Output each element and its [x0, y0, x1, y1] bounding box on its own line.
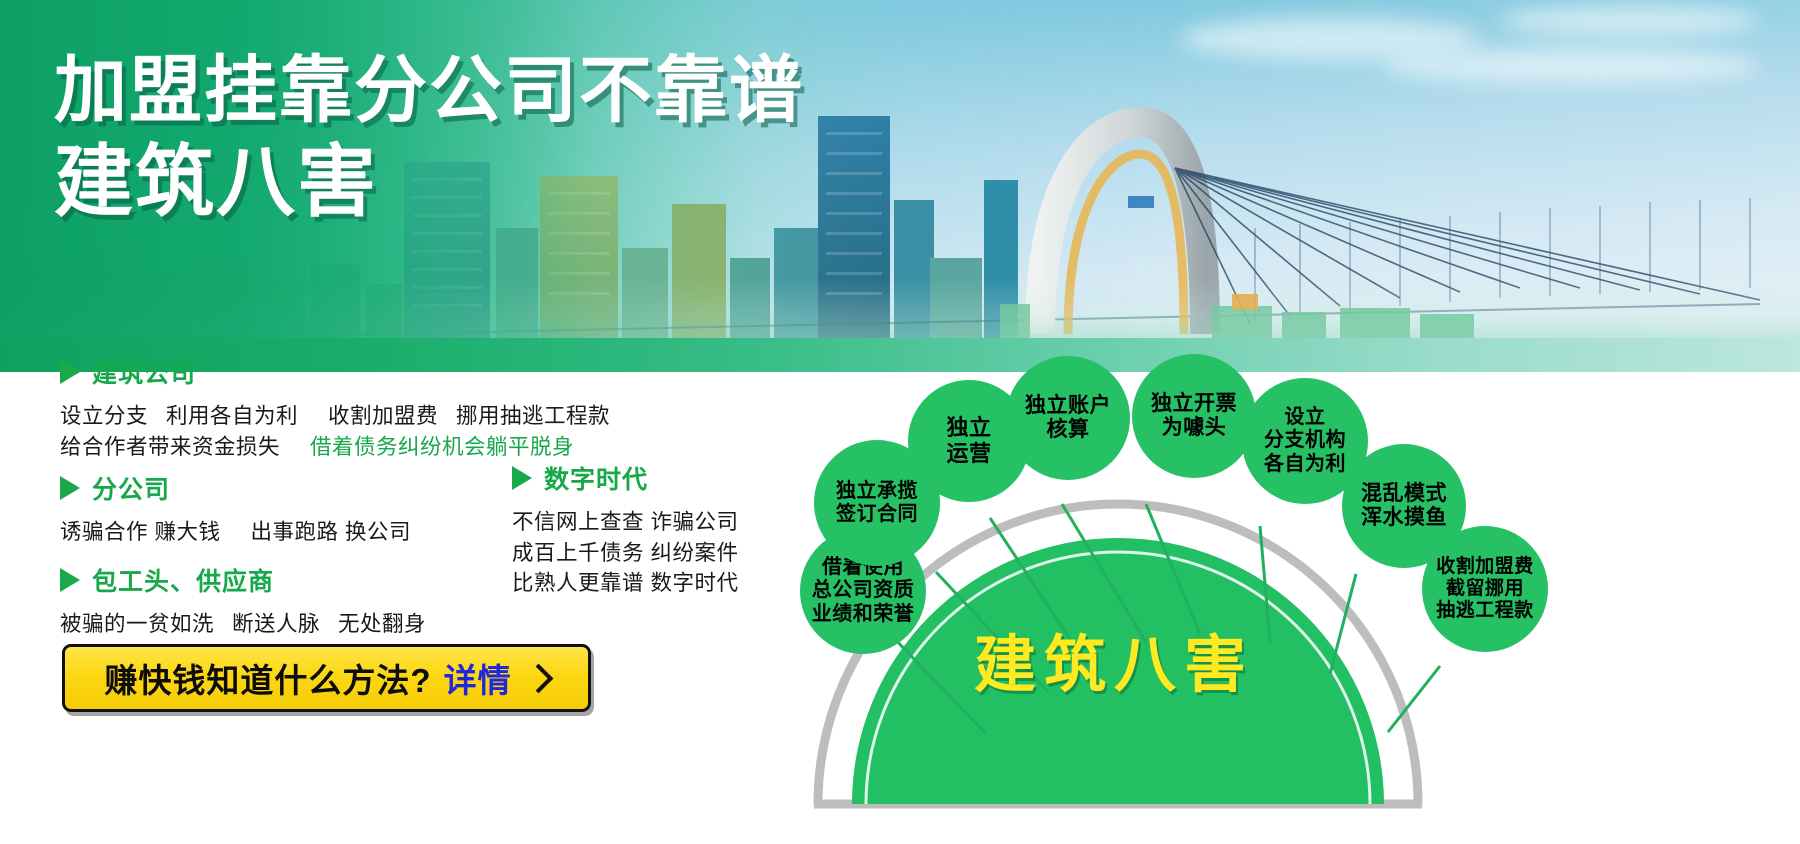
cta-label: 赚快钱知道什么方法? [104, 654, 431, 702]
triangle-bullet-icon [60, 360, 80, 384]
section-title: 数字时代 [544, 460, 648, 496]
node-line: 独立承揽 [836, 480, 918, 503]
section-header: 包工头、供应商 [60, 562, 426, 598]
section-branch-company: 分公司 诱骗合作 赚大钱出事跑路 换公司 [60, 470, 411, 548]
section-header: 数字时代 [512, 460, 738, 496]
section-contractor-supplier: 包工头、供应商 被骗的一贫如洗断送人脉无处翻身 [60, 562, 426, 640]
line-part: 无处翻身 [338, 612, 426, 636]
section-line: 不信网上查查 诈骗公司 [512, 507, 738, 538]
section-body: 设立分支利用各自为利收割加盟费挪用抽逃工程款 给合作者带来资金损失借着债务纠纷机… [60, 401, 610, 462]
cta-button[interactable]: 赚快钱知道什么方法? 详情 [62, 644, 591, 712]
diagram-node[interactable]: 独立账户 核算 [1006, 356, 1130, 480]
section-title: 分公司 [92, 470, 170, 506]
node-line: 收割加盟费 [1436, 556, 1534, 578]
chevron-right-icon [523, 663, 553, 693]
cta-detail-link[interactable]: 详情 [444, 654, 512, 702]
line-part: 收割加盟费 [328, 404, 438, 428]
cloud-decoration [1380, 48, 1760, 84]
line-part: 断送人脉 [232, 612, 320, 636]
node-line: 核算 [1025, 418, 1111, 442]
poster-root: 加盟挂靠分公司不靠谱 建筑八害 建筑公司 设立分支利用各自为利收割加盟费挪用抽逃… [0, 0, 1800, 844]
section-line: 诱骗合作 赚大钱出事跑路 换公司 [60, 517, 411, 548]
left-content-column: 建筑公司 设立分支利用各自为利收割加盟费挪用抽逃工程款 给合作者带来资金损失借着… [0, 372, 800, 844]
node-line: 设立 [1264, 406, 1346, 429]
node-line: 抽逃工程款 [1436, 600, 1534, 622]
line-part-highlight: 借着债务纠纷机会躺平脱身 [310, 435, 574, 459]
hero-title-block: 加盟挂靠分公司不靠谱 建筑八害 [54, 50, 804, 226]
node-line: 运营 [946, 441, 991, 467]
line-part: 设立分支 [60, 404, 148, 428]
section-header: 建筑公司 [60, 354, 610, 390]
line-part: 诱骗合作 赚大钱 [60, 520, 220, 544]
node-line: 浑水摸鱼 [1361, 506, 1447, 530]
hero-title-line-1: 加盟挂靠分公司不靠谱 [54, 50, 804, 132]
section-body: 被骗的一贫如洗断送人脉无处翻身 [60, 609, 426, 640]
line-part: 被骗的一贫如洗 [60, 612, 214, 636]
section-line: 成百上千债务 纠纷案件 [512, 538, 738, 569]
triangle-bullet-icon [512, 466, 532, 490]
section-body: 诱骗合作 赚大钱出事跑路 换公司 [60, 517, 411, 548]
node-line: 独立开票 [1151, 392, 1237, 416]
node-line: 混乱模式 [1361, 482, 1447, 506]
hero-banner: 加盟挂靠分公司不靠谱 建筑八害 [0, 0, 1800, 372]
section-line: 比熟人更靠谱 数字时代 [512, 568, 738, 599]
section-title: 建筑公司 [92, 354, 196, 390]
node-line: 独立 [946, 415, 991, 441]
node-line: 签订合同 [836, 503, 918, 526]
triangle-bullet-icon [60, 568, 80, 592]
section-construction-company: 建筑公司 设立分支利用各自为利收割加盟费挪用抽逃工程款 给合作者带来资金损失借着… [60, 354, 610, 462]
section-header: 分公司 [60, 470, 411, 506]
section-line: 设立分支利用各自为利收割加盟费挪用抽逃工程款 [60, 401, 610, 432]
node-line: 截留挪用 [1436, 578, 1534, 600]
cloud-decoration [1500, 6, 1760, 36]
line-part: 给合作者带来资金损失 [60, 435, 280, 459]
section-digital-era: 数字时代 不信网上查查 诈骗公司 成百上千债务 纠纷案件 比熟人更靠谱 数字时代 [512, 460, 738, 599]
diagram-node[interactable]: 独立开票 为噱头 [1132, 354, 1256, 478]
section-body: 不信网上查查 诈骗公司 成百上千债务 纠纷案件 比熟人更靠谱 数字时代 [512, 507, 738, 599]
diagram-node[interactable]: 收割加盟费 截留挪用 抽逃工程款 [1422, 526, 1548, 652]
bajiu-diagram: 借着使用 总公司资质 业绩和荣誉 独立承揽 签订合同 独立 运营 独立账户 核算 [790, 336, 1800, 844]
node-line: 业绩和荣誉 [812, 603, 915, 626]
node-line: 总公司资质 [812, 579, 915, 602]
node-line: 分支机构 [1264, 429, 1346, 452]
hero-title-line-2: 建筑八害 [54, 138, 804, 226]
dome-center-label: 建筑八害 [974, 614, 1254, 704]
section-title: 包工头、供应商 [92, 562, 274, 598]
triangle-bullet-icon [60, 476, 80, 500]
section-line: 被骗的一贫如洗断送人脉无处翻身 [60, 609, 426, 640]
section-line: 给合作者带来资金损失借着债务纠纷机会躺平脱身 [60, 432, 610, 463]
line-part: 挪用抽逃工程款 [456, 404, 610, 428]
node-line: 各自为利 [1264, 453, 1346, 476]
line-part: 出事跑路 换公司 [250, 520, 410, 544]
node-line: 独立账户 [1025, 394, 1111, 418]
line-part: 利用各自为利 [166, 404, 298, 428]
node-line: 为噱头 [1151, 416, 1237, 440]
